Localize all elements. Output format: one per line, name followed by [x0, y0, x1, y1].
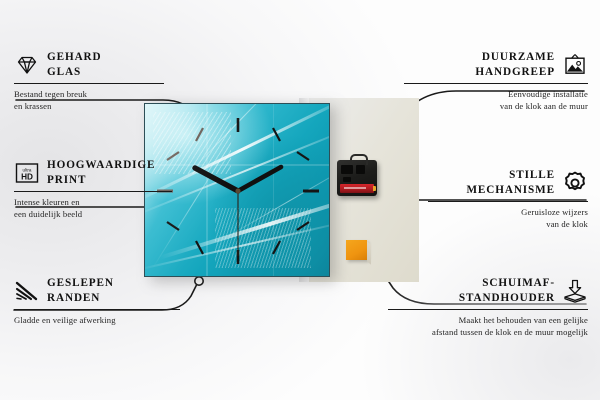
feature-duurzame-handgreep: DUURZAME HANDGREEP Eenvoudige installati… [404, 50, 588, 112]
feature-desc-line1: Bestand tegen breuk [14, 88, 164, 100]
feature-desc-line2: afstand tussen de klok en de muur mogeli… [388, 326, 588, 338]
feature-desc-line1: Gladde en veilige afwerking [14, 314, 180, 326]
product-scene [141, 98, 419, 282]
feature-divider [404, 83, 588, 84]
movement-slot [343, 177, 351, 182]
feature-hoogwaardige-print: ultra HD HOOGWAARDIGE PRINT Intense kleu… [14, 158, 172, 220]
feature-title-line1: SCHUIMAF- [459, 276, 555, 291]
svg-text:HD: HD [21, 172, 33, 181]
picture-frame-icon [562, 52, 588, 78]
feature-title-line2: STANDHOUDER [459, 291, 555, 306]
feature-stille-mechanisme: STILLE MECHANISME Geruisloze wijzers van… [428, 168, 588, 230]
feature-desc-line2: van de klok [428, 218, 588, 230]
foam-spacer-pad [346, 240, 367, 260]
gear-icon [562, 170, 588, 196]
press-down-pad-icon [562, 278, 588, 304]
movement-slot [356, 165, 365, 174]
feature-title-line2: RANDEN [47, 291, 114, 306]
ultra-hd-icon: ultra HD [14, 160, 40, 186]
beveled-edges-icon [14, 278, 40, 304]
feature-desc-line2: van de klok aan de muur [404, 100, 588, 112]
feature-title-line2: MECHANISME [466, 183, 555, 198]
infographic-canvas: GEHARD GLAS Bestand tegen breuk en krass… [0, 0, 600, 400]
diamond-icon [14, 52, 40, 78]
feature-title-line2: PRINT [47, 173, 155, 188]
feature-schuimafstandhouder: SCHUIMAF- STANDHOUDER Maakt het behouden… [388, 276, 588, 338]
feature-title-line1: STILLE [466, 168, 555, 183]
feature-title-line1: GEHARD [47, 50, 102, 65]
feature-desc-line2: en krassen [14, 100, 164, 112]
feature-geslepen-randen: GESLEPEN RANDEN Gladde en veilige afwerk… [14, 276, 180, 326]
feature-desc-line2: een duidelijk beeld [14, 208, 172, 220]
feature-title-line1: GESLEPEN [47, 276, 114, 291]
feature-desc-line1: Maakt het behouden van een gelijke [388, 314, 588, 326]
feature-desc-line1: Eenvoudige installatie [404, 88, 588, 100]
movement-slot [341, 165, 353, 174]
feature-desc-line1: Intense kleuren en [14, 196, 172, 208]
feature-divider [14, 309, 180, 310]
feature-divider [14, 191, 172, 192]
feature-divider [388, 309, 588, 310]
feature-title-line1: HOOGWAARDIGE [47, 158, 155, 173]
feature-title-line2: HANDGREEP [475, 65, 555, 80]
feature-gehard-glas: GEHARD GLAS Bestand tegen breuk en krass… [14, 50, 164, 112]
glass-gloss [145, 104, 330, 277]
feature-divider [428, 201, 588, 202]
feature-title-line2: GLAS [47, 65, 102, 80]
feature-title-line1: DUURZAME [475, 50, 555, 65]
battery-label [344, 187, 366, 189]
clock-movement [337, 160, 377, 196]
feature-desc-line1: Geruisloze wijzers [428, 206, 588, 218]
movement-hanger [350, 154, 368, 165]
battery [340, 184, 374, 193]
feature-divider [14, 83, 164, 84]
